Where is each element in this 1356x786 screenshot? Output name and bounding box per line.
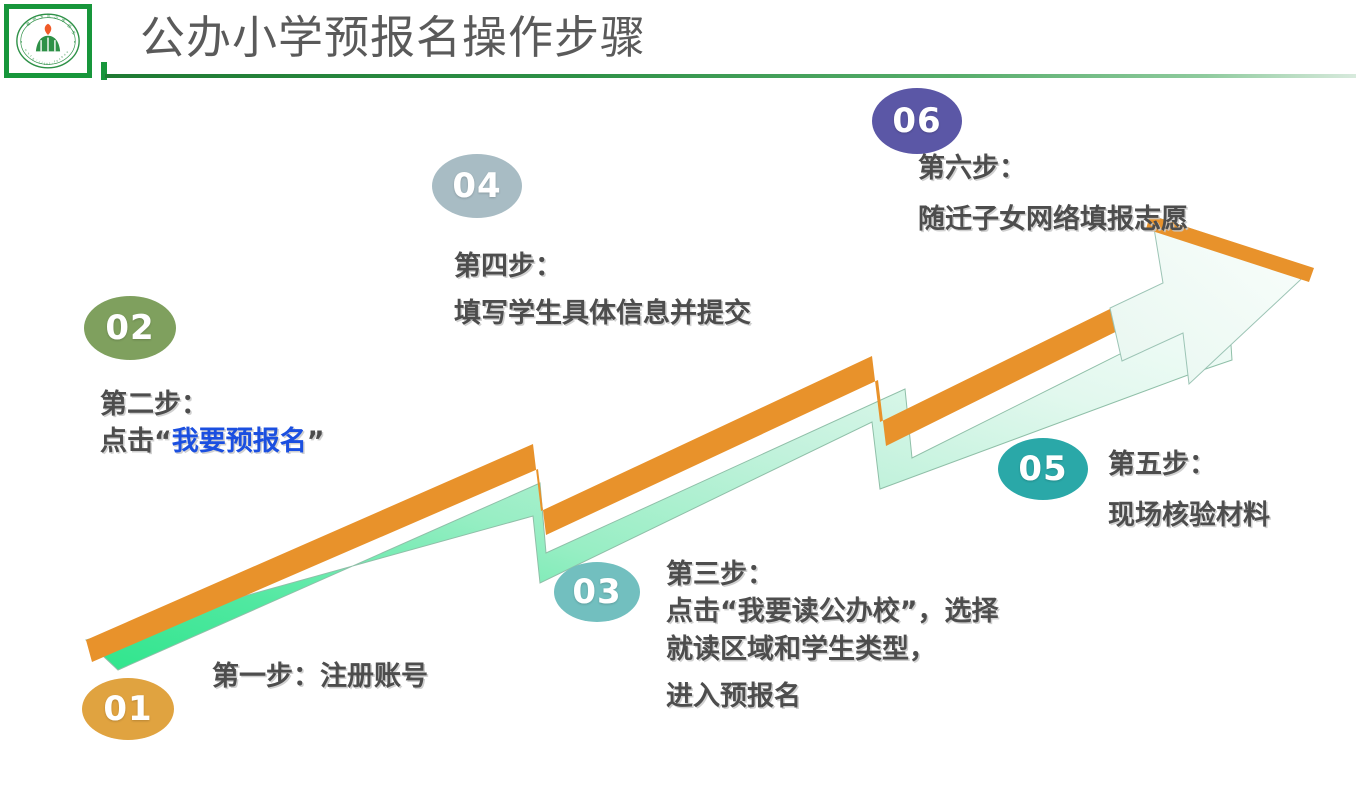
svg-text:生: 生 — [71, 29, 77, 35]
slide-canvas: 福 州 五 区 小 学 招 生 h t t p : / / j — [0, 0, 1356, 786]
step-text-02: 第二步： 点击“我要预报名” — [100, 386, 325, 461]
step-text-05: 第五步： 现场核验材料 — [1108, 446, 1270, 535]
svg-text:h: h — [24, 48, 28, 52]
step-badge-03[interactable]: 03 — [554, 562, 640, 622]
step-badge-05-label: 05 — [1018, 449, 1067, 489]
step-text-03: 第三步： 点击“我要读公办校”，选择 就读区域和学生类型， 进入预报名 — [666, 556, 999, 715]
step-badge-05[interactable]: 05 — [998, 438, 1088, 500]
svg-text:u: u — [65, 50, 69, 54]
step-06-line-1: 第六步： — [918, 150, 1188, 187]
step-05-line-1: 第五步： — [1108, 446, 1270, 483]
step-04-line-1: 第四步： — [454, 248, 751, 285]
svg-text:招: 招 — [66, 23, 72, 29]
school-seal-logo: 福 州 五 区 小 学 招 生 h t t p : / / j — [4, 4, 92, 78]
step-03-line-4: 进入预报名 — [666, 678, 999, 715]
step-badge-01-label: 01 — [103, 689, 152, 729]
step-badge-02[interactable]: 02 — [84, 296, 176, 360]
step-06-line-2: 随迁子女网络填报志愿 — [918, 201, 1188, 238]
step-03-line-2: 点击“我要读公办校”，选择 — [666, 593, 999, 630]
step-02-line-2: 点击“我要预报名” — [100, 423, 325, 460]
step-03-line-1: 第三步： — [666, 556, 999, 593]
step-02-line-1: 第二步： — [100, 386, 325, 423]
step-04-line-2: 填写学生具体信息并提交 — [454, 295, 751, 332]
svg-text:p: p — [32, 56, 35, 60]
step-badge-04-label: 04 — [452, 166, 501, 206]
page-title: 公办小学预报名操作步骤 — [140, 8, 646, 68]
svg-text:区: 区 — [47, 13, 51, 18]
svg-text:州: 州 — [32, 16, 38, 22]
step-02-body-highlight: 我要预报名 — [172, 426, 307, 457]
step-badge-06-label: 06 — [892, 101, 941, 141]
step-03-line-3: 就读区域和学生类型， — [666, 631, 999, 668]
step-05-line-2: 现场核验材料 — [1108, 497, 1270, 534]
step-text-04: 第四步： 填写学生具体信息并提交 — [454, 248, 751, 333]
step-badge-04[interactable]: 04 — [432, 154, 522, 218]
step-02-body-post: ” — [307, 426, 325, 457]
step-text-01: 第一步：注册账号 — [212, 658, 428, 695]
step-badge-06[interactable]: 06 — [872, 88, 962, 154]
step-02-body-pre: 点击“ — [100, 426, 172, 457]
step-badge-03-label: 03 — [572, 572, 621, 612]
step-text-06: 第六步： 随迁子女网络填报志愿 — [918, 150, 1188, 239]
step-badge-01[interactable]: 01 — [82, 678, 174, 740]
svg-text:福: 福 — [25, 21, 31, 27]
step-01-line-1: 第一步：注册账号 — [212, 658, 428, 695]
step-badge-02-label: 02 — [105, 308, 154, 348]
